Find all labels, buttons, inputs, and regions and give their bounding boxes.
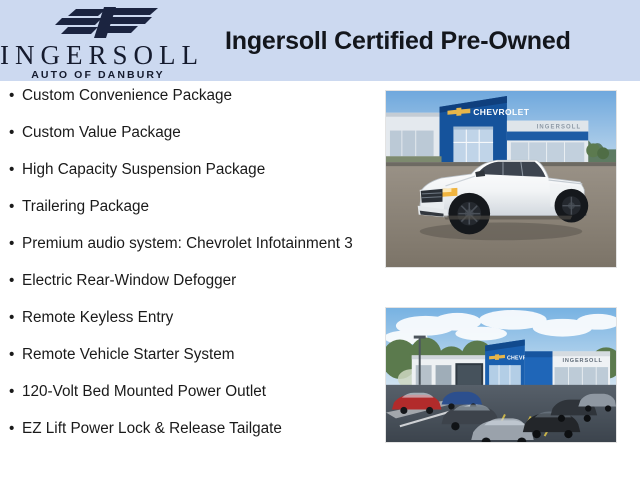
bullet-icon: • bbox=[9, 197, 14, 217]
svg-text:INGERSOLL: INGERSOLL bbox=[537, 125, 582, 131]
list-item-label: Remote Keyless Entry bbox=[22, 309, 173, 326]
logo-tagline: AUTO OF DANBURY bbox=[0, 70, 196, 81]
bullet-icon: • bbox=[9, 86, 14, 106]
list-item: •Trailering Package bbox=[0, 197, 372, 217]
vehicle-photo[interactable]: CHEVROLET INGERSOLL bbox=[385, 90, 617, 268]
list-item-label: EZ Lift Power Lock & Release Tailgate bbox=[22, 420, 282, 437]
list-item-label: Premium audio system: Chevrolet Infotain… bbox=[22, 235, 353, 252]
bullet-icon: • bbox=[9, 308, 14, 328]
list-item: •Remote Vehicle Starter System bbox=[0, 345, 372, 365]
list-item: •Custom Convenience Package bbox=[0, 86, 372, 106]
list-item-label: Electric Rear-Window Defogger bbox=[22, 272, 236, 289]
list-item-label: Custom Value Package bbox=[22, 124, 181, 141]
features-list: •Custom Convenience Package •Custom Valu… bbox=[0, 86, 372, 456]
list-item: •EZ Lift Power Lock & Release Tailgate bbox=[0, 419, 372, 439]
list-item-label: Custom Convenience Package bbox=[22, 87, 232, 104]
dealership-photo[interactable]: CHEVROLET INGERSOLL bbox=[385, 307, 617, 443]
list-item: •High Capacity Suspension Package bbox=[0, 160, 372, 180]
list-item-label: Remote Vehicle Starter System bbox=[22, 346, 235, 363]
bullet-icon: • bbox=[9, 419, 14, 439]
bullet-icon: • bbox=[9, 160, 14, 180]
svg-text:INGERSOLL: INGERSOLL bbox=[562, 358, 602, 364]
list-item-label: High Capacity Suspension Package bbox=[22, 161, 265, 178]
list-item: •Premium audio system: Chevrolet Infotai… bbox=[0, 234, 372, 254]
list-item-label: Trailering Package bbox=[22, 198, 149, 215]
bullet-icon: • bbox=[9, 234, 14, 254]
list-item-label: 120-Volt Bed Mounted Power Outlet bbox=[22, 383, 266, 400]
svg-text:CHEVROLET: CHEVROLET bbox=[473, 107, 529, 117]
logo-wordmark: INGERSOLL bbox=[0, 42, 196, 69]
list-item: •Remote Keyless Entry bbox=[0, 308, 372, 328]
list-item: •Electric Rear-Window Defogger bbox=[0, 271, 372, 291]
list-item: •Custom Value Package bbox=[0, 123, 372, 143]
bullet-icon: • bbox=[9, 271, 14, 291]
bullet-icon: • bbox=[9, 123, 14, 143]
page-title: Ingersoll Certified Pre-Owned bbox=[225, 27, 571, 56]
list-item: •120-Volt Bed Mounted Power Outlet bbox=[0, 382, 372, 402]
bullet-icon: • bbox=[9, 382, 14, 402]
ingersoll-winged-if-emblem bbox=[46, 5, 164, 41]
bullet-icon: • bbox=[9, 345, 14, 365]
brand-logo: INGERSOLL AUTO OF DANBURY bbox=[0, 2, 196, 80]
